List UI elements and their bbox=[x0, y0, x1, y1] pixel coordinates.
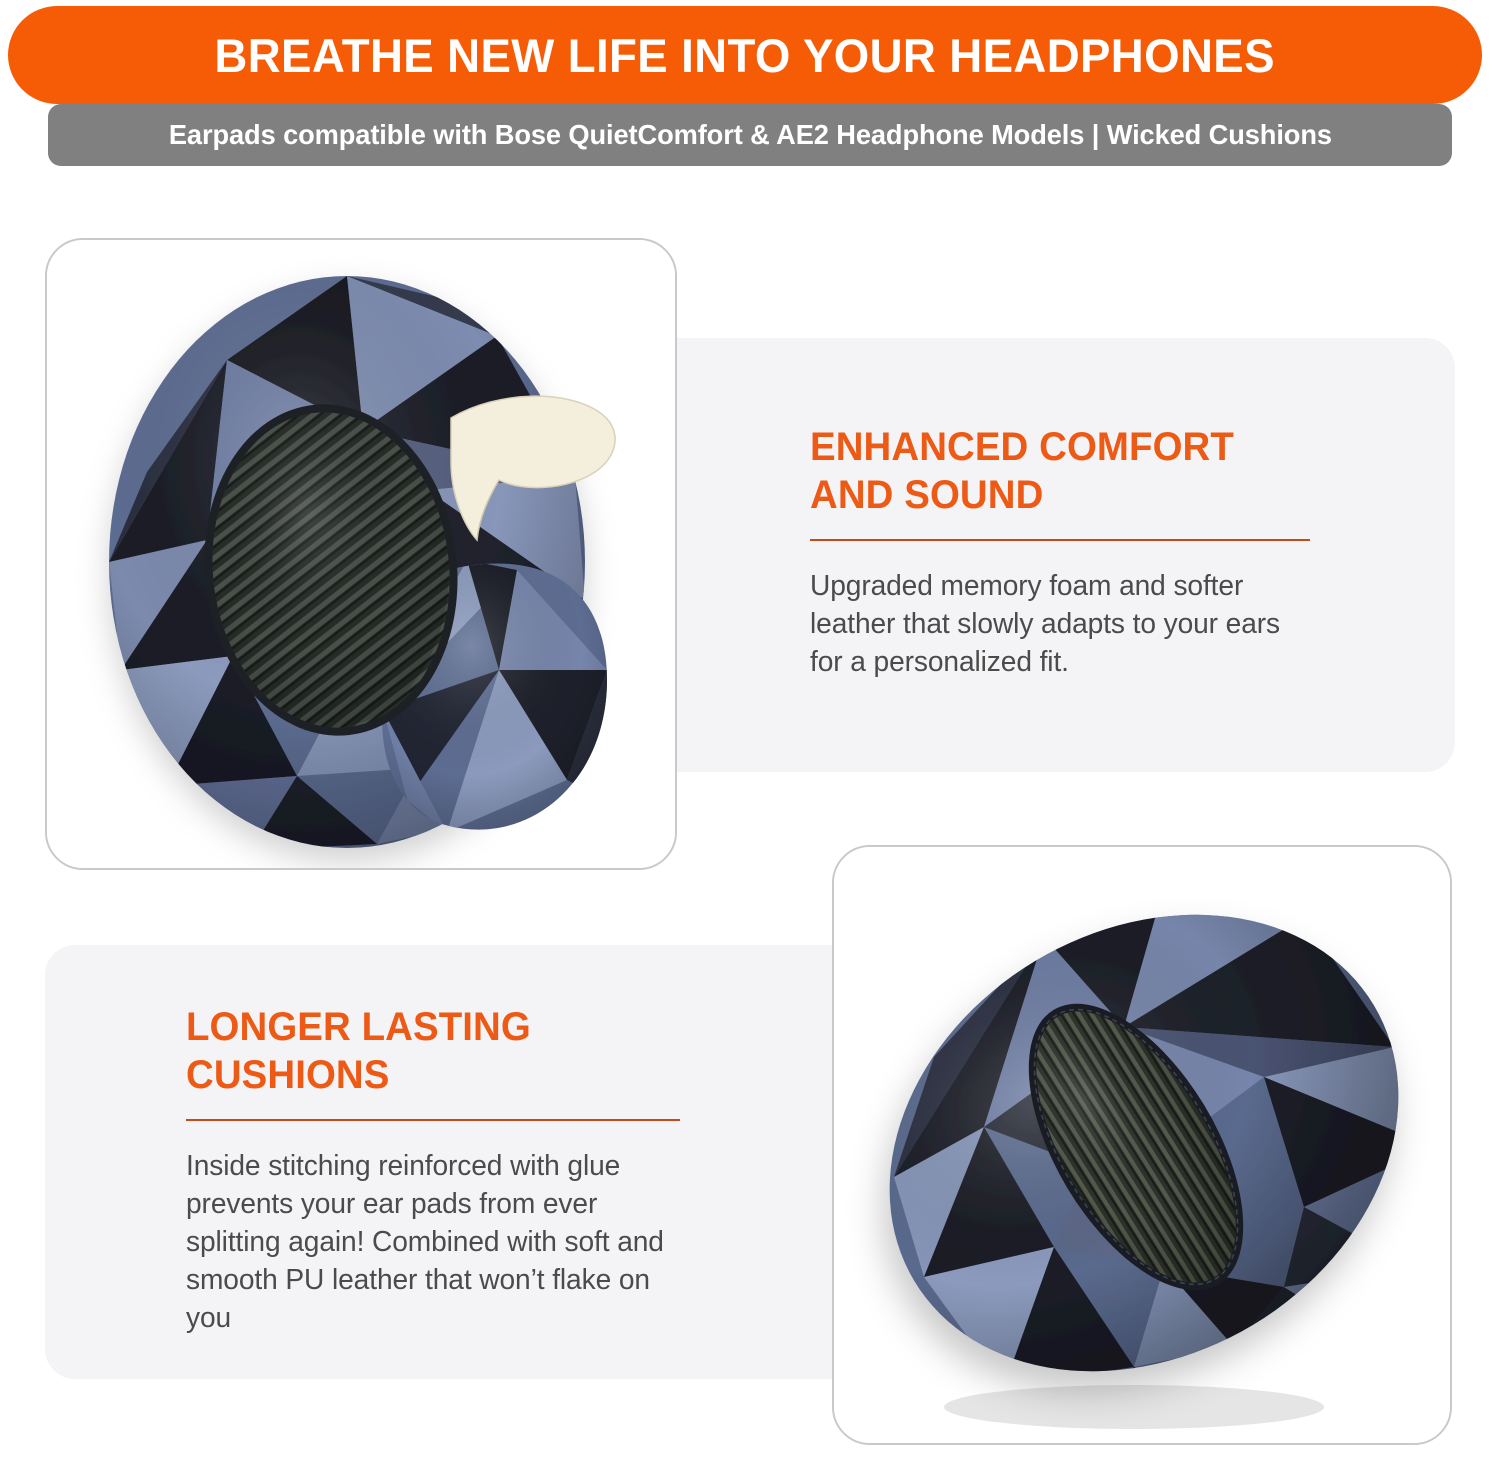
feature-1-title-line-1: ENHANCED COMFORT bbox=[810, 423, 1302, 471]
feature-1-divider bbox=[810, 539, 1310, 541]
subtitle-text: Earpads compatible with Bose QuietComfor… bbox=[168, 119, 1331, 151]
feature-2-divider bbox=[186, 1119, 680, 1121]
headline-banner: BREATHE NEW LIFE INTO YOUR HEADPHONES bbox=[8, 6, 1482, 104]
feature-2-body: Inside stitching reinforced with glue pr… bbox=[186, 1147, 666, 1337]
feature-block-2: LONGER LASTING CUSHIONS Inside stitching… bbox=[186, 1003, 681, 1337]
feature-block-1: ENHANCED COMFORT AND SOUND Upgraded memo… bbox=[810, 423, 1322, 681]
infographic-canvas: BREATHE NEW LIFE INTO YOUR HEADPHONES Ea… bbox=[0, 0, 1500, 1482]
feature-1-title-line-2: AND SOUND bbox=[810, 471, 1302, 519]
feature-1-body: Upgraded memory foam and softer leather … bbox=[810, 567, 1307, 681]
feature-2-title-line-1: LONGER LASTING bbox=[186, 1003, 661, 1051]
feature-2-title-line-2: CUSHIONS bbox=[186, 1051, 661, 1099]
product-image-card-angled bbox=[832, 845, 1452, 1445]
feature-1-title: ENHANCED COMFORT AND SOUND bbox=[810, 423, 1302, 519]
product-image-card-front bbox=[45, 238, 677, 870]
feature-2-title: LONGER LASTING CUSHIONS bbox=[186, 1003, 661, 1099]
earpad-front-view-illustration bbox=[47, 240, 675, 868]
subtitle-bar: Earpads compatible with Bose QuietComfor… bbox=[48, 104, 1452, 166]
headline-text: BREATHE NEW LIFE INTO YOUR HEADPHONES bbox=[215, 28, 1275, 83]
earpad-angled-view-illustration bbox=[834, 847, 1450, 1443]
